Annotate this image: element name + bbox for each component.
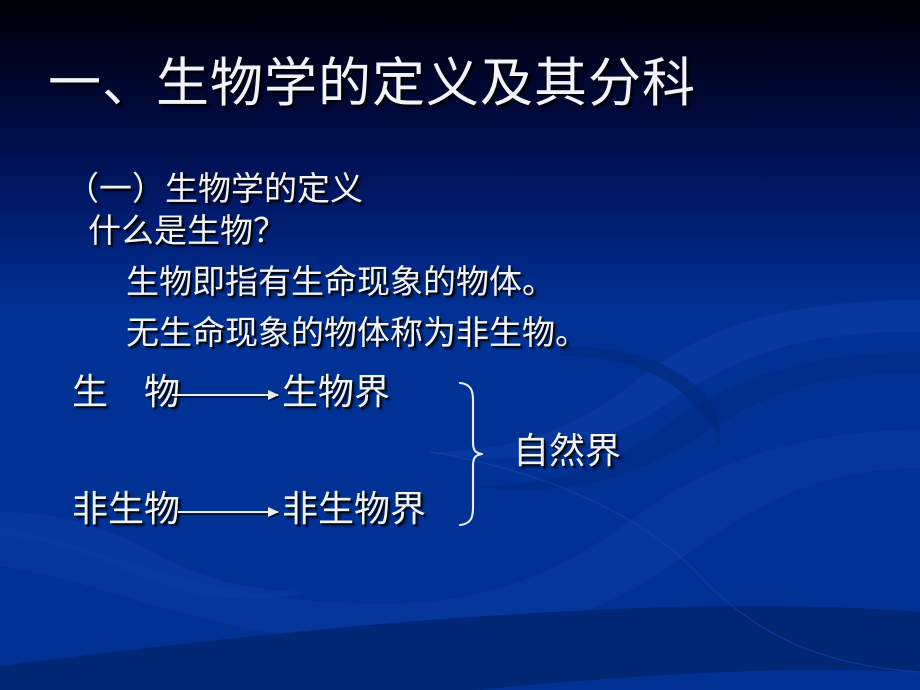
right-curly-brace-icon [452,380,498,528]
arrow-right-icon [172,394,278,396]
body-heading: （一）生物学的定义 [66,172,363,205]
slide-title: 一、生物学的定义及其分科 [48,57,696,110]
diagram-row2-target: 非生物界 [282,492,426,528]
diagram-row1-target: 生物界 [282,375,390,411]
body-statement-1: 生物即指有生命现象的物体。 [126,265,555,298]
body-statement-2: 无生命现象的物体称为非生物。 [126,316,588,349]
body-question: 什么是生物？ [88,214,286,247]
diagram-group-label: 自然界 [513,434,621,470]
diagram-row1-source: 生 物 [72,375,180,411]
presentation-slide: 一、生物学的定义及其分科 （一）生物学的定义 什么是生物？ 生物即指有生命现象的… [0,0,920,690]
arrow-right-icon [178,511,278,513]
diagram-row2-source: 非生物 [72,492,180,528]
